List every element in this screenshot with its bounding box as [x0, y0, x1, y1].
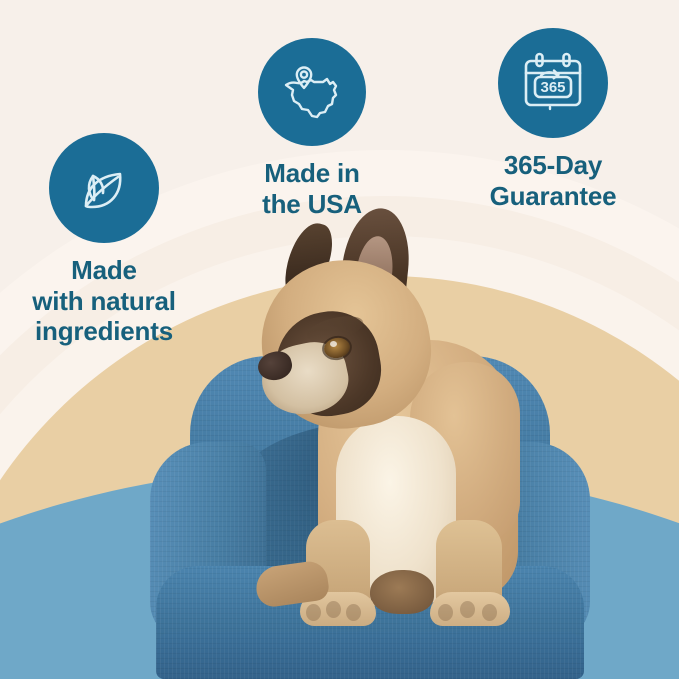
badge-365-day-guarantee: 365 365-Day Guarantee [444, 28, 662, 211]
leaf-icon [72, 156, 136, 220]
badge-made-in-the-usa: Made in the USA [206, 38, 418, 219]
calendar-365-icon: 365 [519, 49, 587, 117]
usa-map-pin-icon [279, 59, 345, 125]
badge-label-usa: Made in the USA [206, 158, 418, 219]
badge-label-guarantee: 365-Day Guarantee [444, 150, 662, 211]
dog-paw-right [430, 592, 510, 626]
badge-made-with-natural-ingredients: Made with natural ingredients [0, 133, 214, 347]
promo-banner: Made with natural ingredients Made in th… [0, 0, 679, 679]
badge-circle-natural [49, 133, 159, 243]
dog-rear-foot [370, 570, 434, 614]
french-bulldog [232, 220, 532, 630]
calendar-365-text: 365 [540, 79, 565, 96]
dog-eye-glint [330, 341, 337, 347]
badge-circle-usa [258, 38, 366, 146]
chair-seat-front-edge [156, 632, 584, 679]
badge-label-natural: Made with natural ingredients [0, 255, 214, 347]
badge-circle-guarantee: 365 [498, 28, 608, 138]
